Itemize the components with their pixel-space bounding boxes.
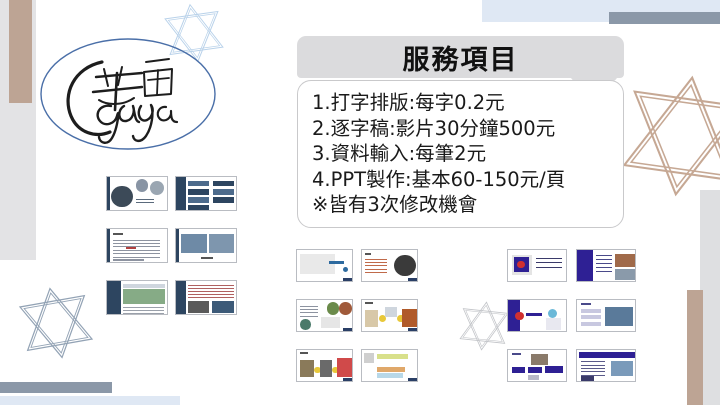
decor-bottom-blue-band [0, 396, 180, 405]
thumbnail-slide[interactable]: 1 [296, 249, 353, 282]
thumbnail-slide[interactable]: 2 [361, 249, 418, 282]
thumbnail-slide[interactable]: 3 [106, 228, 168, 263]
service-note: ※皆有3次修改機會 [312, 192, 623, 218]
thumbnail-slide[interactable]: 4 [175, 228, 237, 263]
service-item: 4.PPT製作:基本60-150元/頁 [312, 167, 623, 193]
service-item: 3.資料輸入:每筆2元 [312, 141, 623, 167]
gaya-signature-logo [38, 32, 218, 156]
thumbnail-slide[interactable]: 5 [296, 349, 353, 382]
star-center-small-icon [455, 297, 512, 354]
service-item: 2.逐字稿:影片30分鐘500元 [312, 116, 623, 142]
presentation-slide: 服務項目 1.打字排版:每字0.2元 2.逐字稿:影片30分鐘500元 3.資料… [0, 0, 720, 405]
star-right-large-icon [612, 64, 720, 209]
thumbnail-slide[interactable]: 1 [507, 249, 567, 282]
service-card-header: 服務項目 [297, 36, 624, 78]
thumbnail-slide[interactable]: 6 [576, 349, 636, 382]
thumbnail-slide[interactable]: 6 [175, 280, 237, 315]
service-card: 服務項目 1.打字排版:每字0.2元 2.逐字稿:影片30分鐘500元 3.資料… [297, 36, 624, 228]
decor-bottom-slate-band [0, 382, 112, 393]
thumbnail-slide[interactable]: 2 [576, 249, 636, 282]
portfolio-grid-purple: 123456 [507, 249, 636, 382]
thumbnail-slide[interactable]: 1 [106, 176, 168, 211]
page-title: 服務項目 [403, 38, 519, 77]
thumbnail-slide[interactable]: 3 [296, 299, 353, 332]
thumbnail-slide[interactable]: 5 [507, 349, 567, 382]
star-bottom-left-icon [12, 279, 100, 367]
decor-right-grey-band [700, 190, 720, 405]
thumbnail-slide[interactable]: 4 [361, 299, 418, 332]
thumbnail-slide[interactable]: 4 [576, 299, 636, 332]
thumbnail-slide[interactable]: 2 [175, 176, 237, 211]
thumbnail-slide[interactable]: 6 [361, 349, 418, 382]
decor-left-tan-band [9, 0, 32, 103]
decor-top-slate-band [609, 12, 720, 24]
portfolio-grid-navy: 123456 [106, 176, 237, 315]
thumbnail-slide[interactable]: 5 [106, 280, 168, 315]
portfolio-grid-white: 123456 [296, 249, 418, 382]
service-item: 1.打字排版:每字0.2元 [312, 90, 623, 116]
thumbnail-slide[interactable]: 3 [507, 299, 567, 332]
service-card-body: 1.打字排版:每字0.2元 2.逐字稿:影片30分鐘500元 3.資料輸入:每筆… [297, 80, 624, 228]
decor-right-tan-band [687, 290, 703, 405]
